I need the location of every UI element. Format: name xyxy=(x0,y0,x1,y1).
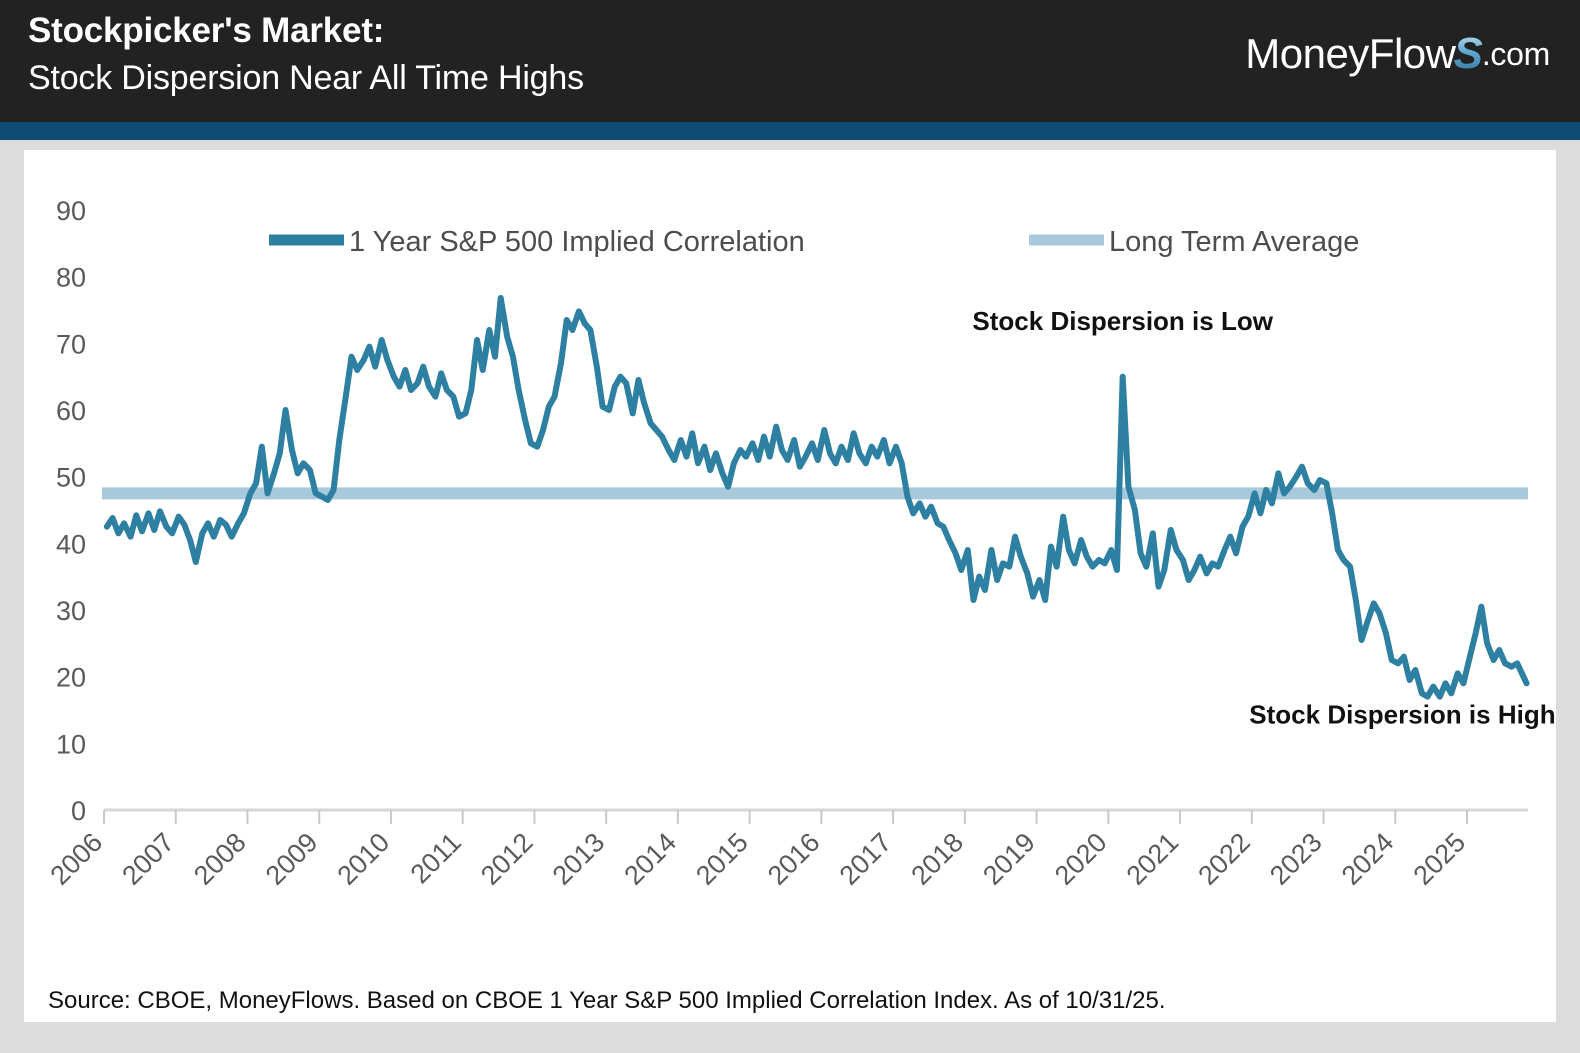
x-tick-label-2011: 2011 xyxy=(405,827,467,889)
header-bar: Stockpicker's Market: Stock Dispersion N… xyxy=(0,0,1580,122)
x-tick-label-2019: 2019 xyxy=(977,827,1041,891)
x-tick-label-2009: 2009 xyxy=(260,827,324,891)
y-tick-label-80: 80 xyxy=(56,263,86,293)
y-tick-label-30: 30 xyxy=(56,596,86,626)
line-chart: 0102030405060708090200620072008200920102… xyxy=(24,150,1556,1022)
x-tick-label-2018: 2018 xyxy=(905,827,969,891)
accent-bar xyxy=(0,122,1580,140)
annotation-0: Stock Dispersion is Low xyxy=(972,306,1273,336)
x-tick-label-2024: 2024 xyxy=(1336,827,1400,891)
moneyflows-logo: MoneyFlowS.com xyxy=(1245,28,1550,80)
y-tick-label-40: 40 xyxy=(56,529,86,559)
x-tick-label-2017: 2017 xyxy=(834,827,898,891)
legend-label-0: 1 Year S&P 500 Implied Correlation xyxy=(349,226,805,258)
y-tick-label-90: 90 xyxy=(56,196,86,226)
logo-s-icon: S xyxy=(1453,29,1482,79)
y-tick-label-50: 50 xyxy=(56,463,86,493)
x-tick-label-2012: 2012 xyxy=(475,827,539,891)
y-tick-label-0: 0 xyxy=(71,796,86,826)
y-tick-label-20: 20 xyxy=(56,663,86,693)
x-tick-label-2006: 2006 xyxy=(45,827,109,891)
annotation-1: Stock Dispersion is High xyxy=(1249,699,1555,729)
chart-page: Stockpicker's Market: Stock Dispersion N… xyxy=(0,0,1580,1053)
page-title: Stockpicker's Market: xyxy=(28,8,584,54)
title-block: Stockpicker's Market: Stock Dispersion N… xyxy=(28,8,584,102)
x-tick-label-2025: 2025 xyxy=(1408,827,1472,891)
chart-card: 0102030405060708090200620072008200920102… xyxy=(24,150,1556,1022)
source-note: Source: CBOE, MoneyFlows. Based on CBOE … xyxy=(48,987,1166,1015)
page-subtitle: Stock Dispersion Near All Time Highs xyxy=(28,54,584,102)
x-tick-label-2023: 2023 xyxy=(1264,827,1328,891)
logo-wordmark: MoneyFlow xyxy=(1245,30,1455,78)
x-tick-label-2007: 2007 xyxy=(116,827,180,891)
x-tick-label-2008: 2008 xyxy=(188,827,252,891)
x-tick-label-2021: 2021 xyxy=(1121,827,1185,891)
x-tick-label-2010: 2010 xyxy=(331,827,395,891)
y-tick-label-10: 10 xyxy=(56,729,86,759)
x-tick-label-2016: 2016 xyxy=(762,827,826,891)
y-tick-label-60: 60 xyxy=(56,396,86,426)
logo-domain-suffix: .com xyxy=(1482,36,1550,73)
legend-label-1: Long Term Average xyxy=(1109,226,1359,258)
x-tick-label-2013: 2013 xyxy=(547,827,611,891)
y-tick-label-70: 70 xyxy=(56,329,86,359)
x-tick-label-2022: 2022 xyxy=(1192,827,1256,891)
x-tick-label-2014: 2014 xyxy=(618,827,682,891)
x-tick-label-2020: 2020 xyxy=(1049,827,1113,891)
x-tick-label-2015: 2015 xyxy=(690,827,754,891)
